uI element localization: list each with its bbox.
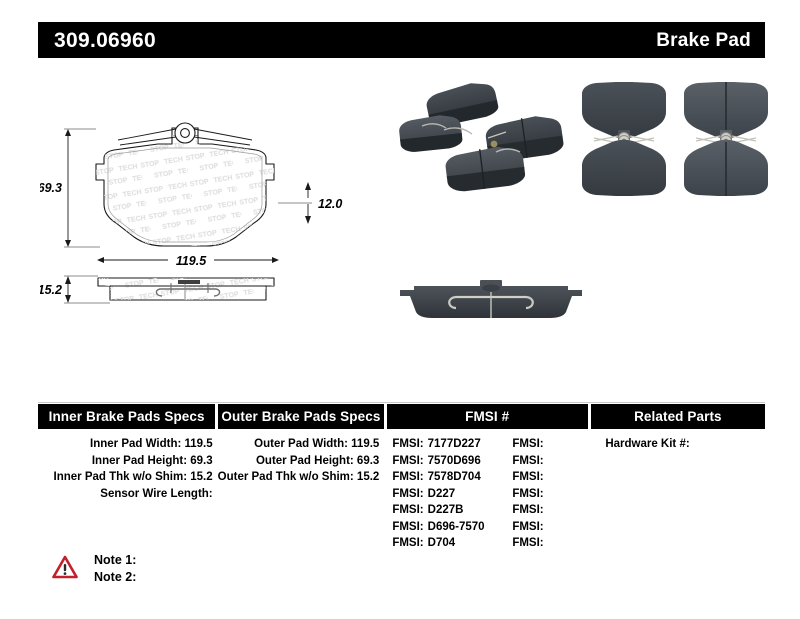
fmsi-value: 7570D696 xyxy=(428,455,481,467)
brake-pad-set-angled-photo xyxy=(392,78,582,198)
fmsi-label: FMSI: xyxy=(512,488,543,500)
dimension-thickness: 12.0 xyxy=(278,182,342,224)
fmsi-label: FMSI: xyxy=(392,471,423,483)
dimension-height: 69.3 xyxy=(40,129,100,247)
dimension-width: 119.5 xyxy=(97,252,279,268)
fmsi-label: FMSI: xyxy=(512,455,543,467)
spec-row: Inner Pad Width: 119.5 xyxy=(38,436,215,453)
notes-section: Note 1: Note 2: xyxy=(52,552,136,586)
column-header-fmsi: FMSI # xyxy=(387,404,588,429)
part-number: 309.06960 xyxy=(54,30,156,51)
table-top-rule xyxy=(38,402,765,403)
technical-drawing: STOP TECH STOP TECH xyxy=(40,120,385,335)
dimension-width-label: 119.5 xyxy=(176,254,207,268)
front-pad-view xyxy=(90,123,285,252)
fmsi-row: FMSI:7578D704 xyxy=(392,469,498,486)
fmsi-row: FMSI: xyxy=(512,502,588,519)
fmsi-row: FMSI:D704 xyxy=(392,535,498,552)
fmsi-label: FMSI: xyxy=(512,504,543,516)
spec-sheet: 309.06960 Brake Pad STOP TECH STOP TECH xyxy=(0,0,800,619)
brake-pad-side-profile-photo xyxy=(396,272,586,334)
column-header-inner: Inner Brake Pads Specs xyxy=(38,404,215,429)
fmsi-label: FMSI: xyxy=(392,521,423,533)
spec-row: Outer Pad Width: 119.5 xyxy=(218,436,384,453)
note-line: Note 2: xyxy=(94,569,136,586)
side-pad-view xyxy=(95,275,280,305)
fmsi-label: FMSI: xyxy=(392,455,423,467)
fmsi-left-list: FMSI:7177D227 FMSI:7570D696 FMSI:7578D70… xyxy=(386,436,498,552)
spec-row: Inner Pad Height: 69.3 xyxy=(38,453,215,470)
spec-table: Inner Brake Pads Specs Outer Brake Pads … xyxy=(38,404,765,552)
fmsi-right-list: FMSI: FMSI: FMSI: FMSI: FMSI: xyxy=(498,436,588,552)
fmsi-value: 7177D227 xyxy=(428,438,481,450)
fmsi-row: FMSI: xyxy=(512,486,588,503)
fmsi-label: FMSI: xyxy=(512,521,543,533)
fmsi-value: D227 xyxy=(428,488,456,500)
fmsi-row: FMSI: xyxy=(512,469,588,486)
related-parts-column: Hardware Kit #: xyxy=(591,436,765,552)
fmsi-row: FMSI: xyxy=(512,535,588,552)
inner-specs-column: Inner Pad Width: 119.5 Inner Pad Height:… xyxy=(38,436,215,552)
dimension-shim-label: 15.2 xyxy=(40,283,62,297)
spec-row: Inner Pad Thk w/o Shim: 15.2 xyxy=(38,469,215,486)
fmsi-value: D704 xyxy=(428,537,456,549)
fmsi-label: FMSI: xyxy=(512,438,543,450)
fmsi-label: FMSI: xyxy=(392,488,423,500)
fmsi-label: FMSI: xyxy=(392,438,423,450)
fmsi-label: FMSI: xyxy=(512,537,543,549)
table-header-row: Inner Brake Pads Specs Outer Brake Pads … xyxy=(38,404,765,429)
spec-row: Outer Pad Height: 69.3 xyxy=(218,453,384,470)
fmsi-row: FMSI:7570D696 xyxy=(392,453,498,470)
fmsi-column: FMSI:7177D227 FMSI:7570D696 FMSI:7578D70… xyxy=(386,436,588,552)
fmsi-label: FMSI: xyxy=(512,471,543,483)
fmsi-row: FMSI:D696-7570 xyxy=(392,519,498,536)
spec-row: Sensor Wire Length: xyxy=(38,486,215,503)
fmsi-row: FMSI: xyxy=(512,453,588,470)
spec-row: Outer Pad Thk w/o Shim: 15.2 xyxy=(218,469,384,486)
dimension-thickness-label: 12.0 xyxy=(318,197,342,211)
fmsi-label: FMSI: xyxy=(392,504,423,516)
fmsi-label: FMSI: xyxy=(392,537,423,549)
fmsi-value: D696-7570 xyxy=(428,521,485,533)
related-part-row: Hardware Kit #: xyxy=(591,436,765,453)
column-header-related-parts: Related Parts xyxy=(591,404,765,429)
product-type-title: Brake Pad xyxy=(656,31,751,50)
brake-pad-set-grid-photo xyxy=(578,76,778,200)
fmsi-row: FMSI: xyxy=(512,519,588,536)
note-line: Note 1: xyxy=(94,552,136,569)
dimension-height-label: 69.3 xyxy=(40,181,62,195)
fmsi-value: D227B xyxy=(428,504,464,516)
fmsi-row: FMSI: xyxy=(512,436,588,453)
warning-triangle-icon xyxy=(52,555,78,579)
notes-text: Note 1: Note 2: xyxy=(94,552,136,586)
table-body: Inner Pad Width: 119.5 Inner Pad Height:… xyxy=(38,436,765,552)
fmsi-row: FMSI:7177D227 xyxy=(392,436,498,453)
fmsi-row: FMSI:D227 xyxy=(392,486,498,503)
column-header-outer: Outer Brake Pads Specs xyxy=(218,404,383,429)
title-bar: 309.06960 Brake Pad xyxy=(38,22,765,58)
outer-specs-column: Outer Pad Width: 119.5 Outer Pad Height:… xyxy=(218,436,384,552)
fmsi-row: FMSI:D227B xyxy=(392,502,498,519)
fmsi-value: 7578D704 xyxy=(428,471,481,483)
